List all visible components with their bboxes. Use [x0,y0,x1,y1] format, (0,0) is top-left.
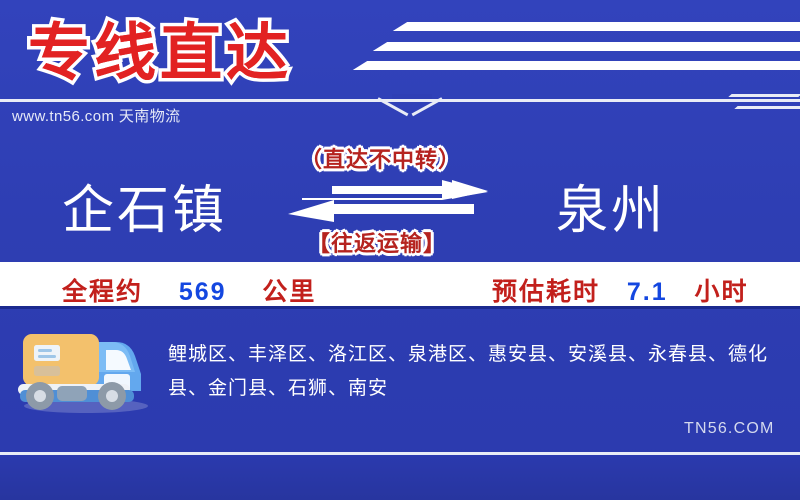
duration-metric: 预估耗时 7.1 小时 [492,272,749,308]
duration-value: 7.1 [627,278,668,306]
arrow-right-icon [302,180,488,200]
duration-unit: 小时 [695,278,749,306]
chevron-down-icon [380,95,440,119]
coverage-districts: 鲤城区、丰泽区、洛江区、泉港区、惠安县、安溪县、永春县、德化县、金门县、石狮、南… [168,338,768,406]
stripe-3 [353,61,800,70]
tail-stripe-2 [734,106,800,109]
origin-city: 企石镇 [62,168,227,243]
route-arrows [288,180,488,222]
badge-direct: （直达不中转） [300,142,461,174]
headline-text: 专线直达 [28,2,292,92]
site-url: www.tn56.com 天南物流 [12,105,181,126]
badge-roundtrip: 【往返运输】 [308,226,446,258]
duration-label: 预估耗时 [492,278,600,306]
distance-unit: 公里 [262,278,316,306]
poster-footer: 公司地址：物流园区（请咨询我公司客服发详细定位） [0,455,800,500]
destination-city: 泉州 [556,168,666,243]
arrow-left-icon [288,200,474,220]
divider-tail-stripes [710,88,800,132]
distance-value: 569 [179,278,227,306]
delivery-truck-icon [10,316,162,416]
stripe-1 [393,22,800,31]
logistics-route-poster: 专线直达 专线直达 www.tn56.com 天南物流 企石镇 泉州 （直达不中… [0,0,800,500]
stripe-2 [373,42,800,51]
distance-label: 全程约 [62,278,143,306]
distance-metric: 全程约 569 公里 [62,272,316,308]
poster-header: 专线直达 专线直达 www.tn56.com 天南物流 [0,0,800,132]
watermark: TN56.COM [684,420,775,438]
decorative-stripes [370,8,800,86]
tail-stripe-1 [728,94,800,97]
